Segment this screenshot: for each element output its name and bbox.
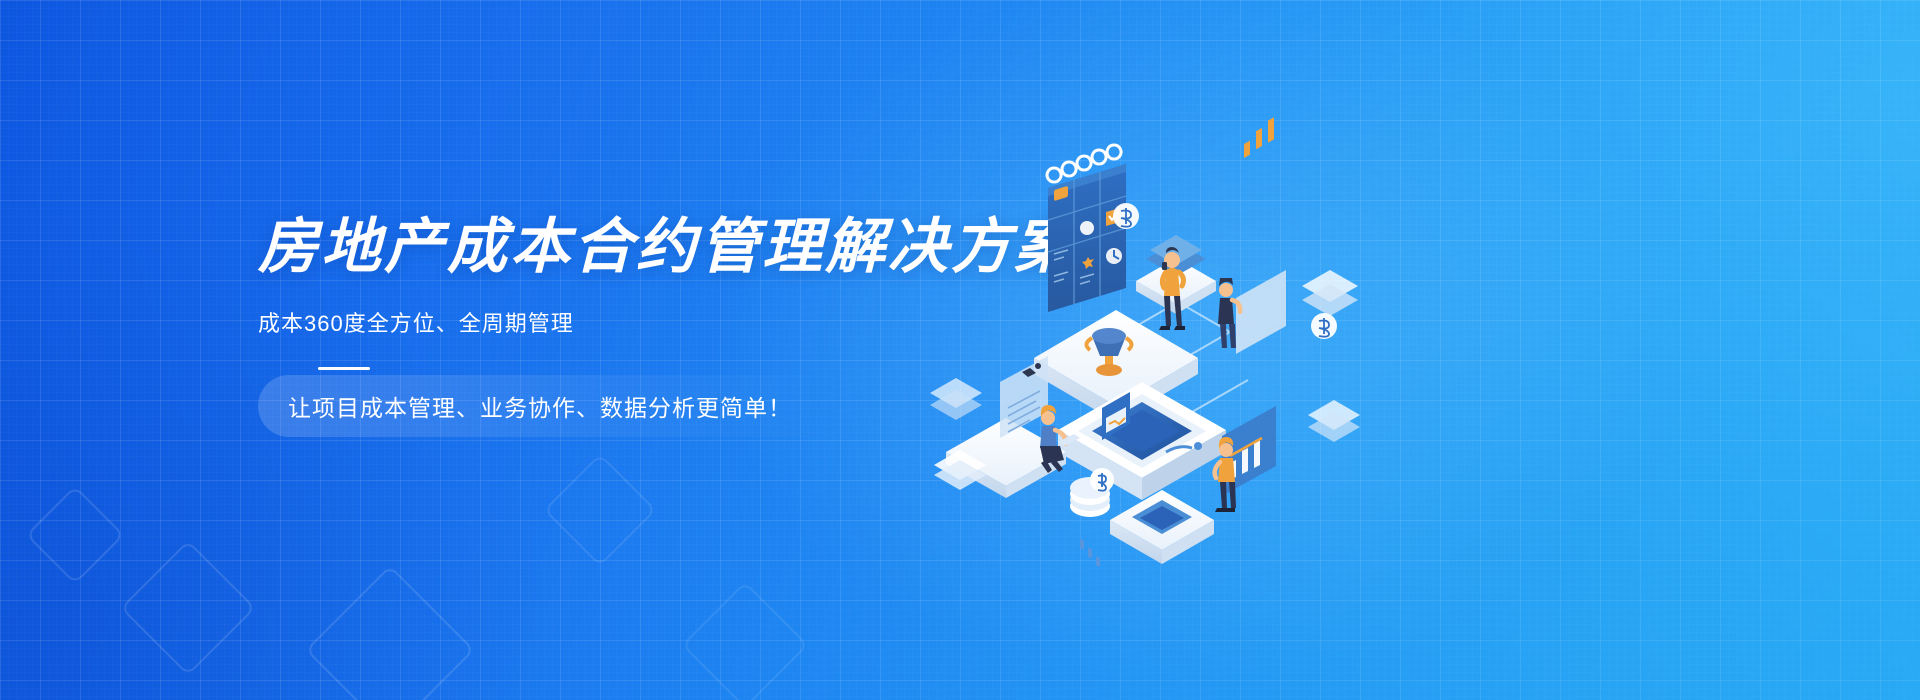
decorative-diamond-icon: [543, 453, 656, 566]
platform-icon: [1110, 490, 1214, 564]
hero-banner: 房地产成本合约管理解决方案 成本360度全方位、全周期管理 让项目成本管理、业务…: [0, 0, 1920, 700]
floating-diamond-icon: [1302, 270, 1360, 442]
chart-panel-icon: [1236, 117, 1286, 354]
page-title: 房地产成本合约管理解决方案: [258, 215, 1018, 279]
calendar-board-icon: [1047, 145, 1126, 312]
tagline-pill: 让项目成本管理、业务协作、数据分析更简单！: [258, 375, 826, 437]
dollar-coin-stack-icon: [1113, 203, 1139, 229]
banner-copy-block: 房地产成本合约管理解决方案 成本360度全方位、全周期管理: [258, 215, 1018, 370]
tagline-text: 让项目成本管理、业务协作、数据分析更简单！: [288, 389, 792, 423]
document-sheet-icon: [1000, 356, 1048, 438]
dollar-coin-stack-icon: [1311, 313, 1337, 339]
decorative-diamond-icon: [681, 581, 808, 700]
decorative-diamond-icon: [120, 540, 256, 676]
hero-illustration: [930, 150, 1400, 570]
dollar-coin-stack-icon: [1070, 468, 1114, 517]
decorative-diamond-icon: [26, 486, 125, 585]
decorative-diamond-icon: [305, 565, 475, 700]
floating-diamond-icon: [930, 378, 982, 420]
banner-subtitle: 成本360度全方位、全周期管理: [258, 309, 1018, 340]
title-divider: [318, 367, 370, 370]
